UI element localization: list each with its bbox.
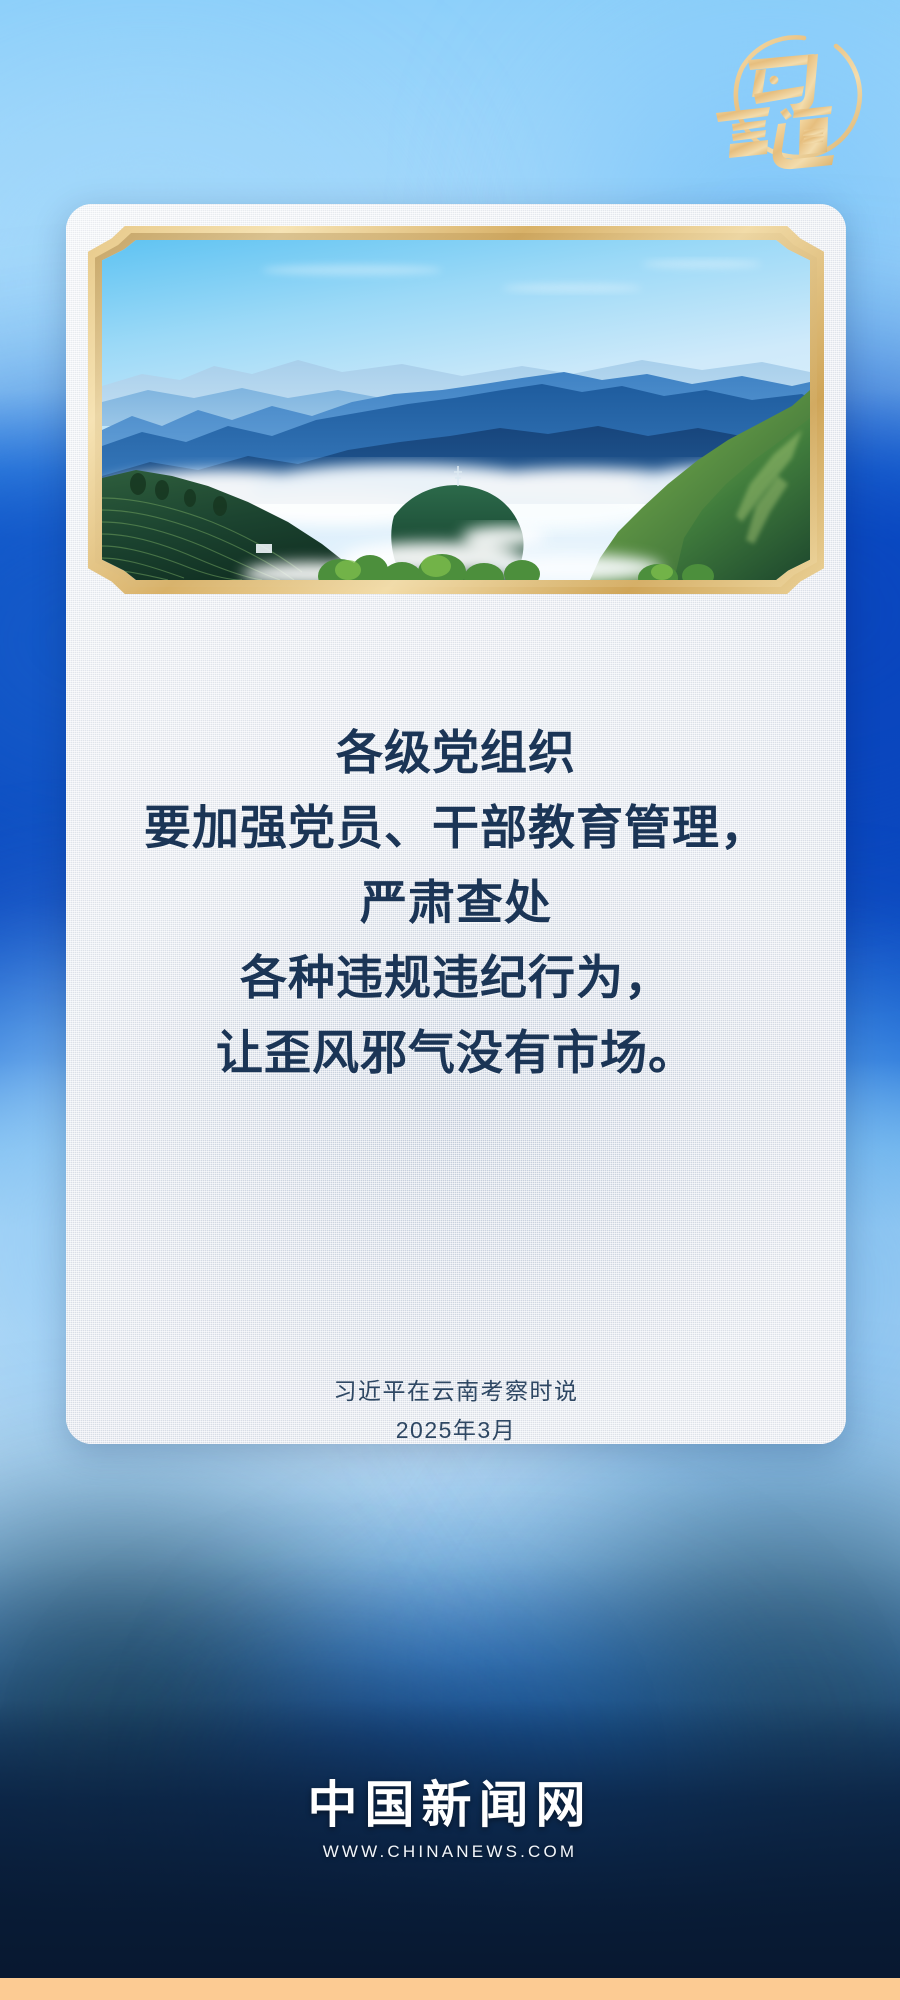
quote-line: 严肃查处 bbox=[66, 866, 846, 941]
quote-line: 各级党组织 bbox=[66, 716, 846, 791]
chinanews-footer-logo[interactable]: 中国新闻网 WWW.CHINANEWS.COM bbox=[0, 1775, 900, 1862]
quote-attribution: 习近平在云南考察时说 2025年3月 bbox=[66, 1372, 846, 1444]
xi-yan-dao-seal-logo bbox=[708, 24, 880, 174]
attribution-source: 习近平在云南考察时说 bbox=[66, 1372, 846, 1411]
framed-photo bbox=[88, 226, 824, 594]
quote-text: 各级党组织 要加强党员、干部教育管理， 严肃查处 各种违规违纪行为， 让歪风邪气… bbox=[66, 716, 846, 1091]
site-url: WWW.CHINANEWS.COM bbox=[0, 1842, 900, 1862]
bottom-accent-bar bbox=[0, 1978, 900, 2000]
quote-line: 要加强党员、干部教育管理， bbox=[66, 791, 846, 866]
quote-line: 各种违规违纪行为， bbox=[66, 941, 846, 1016]
quote-card: 各级党组织 要加强党员、干部教育管理， 严肃查处 各种违规违纪行为， 让歪风邪气… bbox=[66, 204, 846, 1444]
quote-line: 让歪风邪气没有市场。 bbox=[66, 1016, 846, 1091]
attribution-date: 2025年3月 bbox=[66, 1411, 846, 1444]
site-name: 中国新闻网 bbox=[0, 1775, 900, 1835]
mountain-landscape-photo bbox=[102, 240, 810, 580]
